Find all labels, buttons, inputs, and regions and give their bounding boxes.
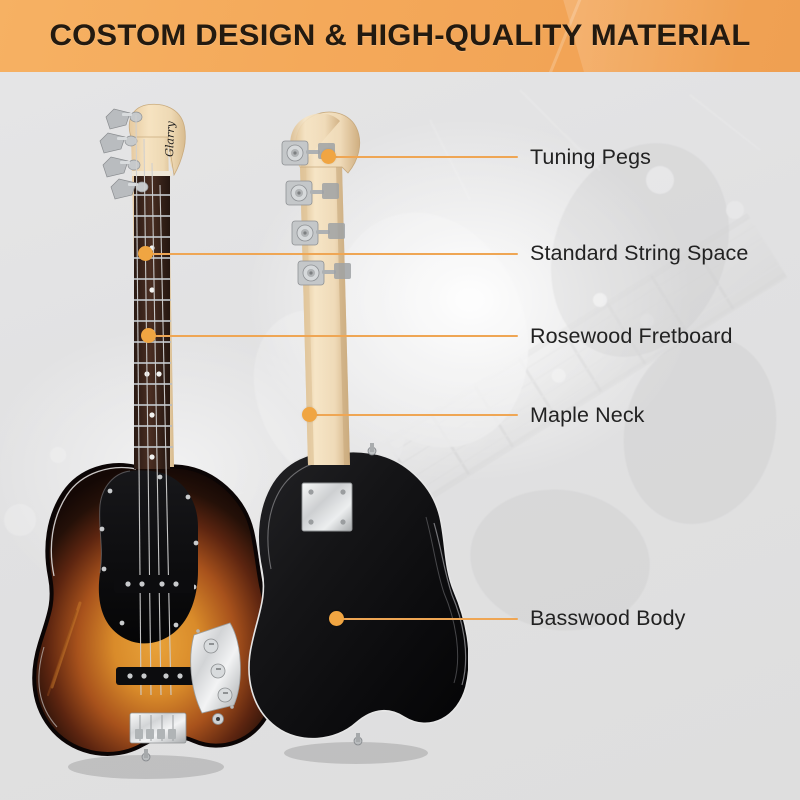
callout-label-standard-string-space: Standard String Space bbox=[530, 241, 748, 266]
callout-line bbox=[148, 335, 518, 337]
callout-line bbox=[336, 618, 518, 620]
product-bass-back bbox=[238, 105, 468, 770]
callout-label-tuning-pegs: Tuning Pegs bbox=[530, 145, 651, 170]
callout-dot bbox=[321, 149, 336, 164]
callout-label-basswood-body: Basswood Body bbox=[530, 606, 685, 631]
callout-dot bbox=[138, 246, 153, 261]
callout-line bbox=[145, 253, 518, 255]
page-title: COSTOM DESIGN & HIGH-QUALITY MATERIAL bbox=[0, 0, 800, 72]
callout-label-maple-neck: Maple Neck bbox=[530, 403, 645, 428]
header-banner: COSTOM DESIGN & HIGH-QUALITY MATERIAL bbox=[0, 0, 800, 72]
callout-dot bbox=[141, 328, 156, 343]
callout-dot bbox=[329, 611, 344, 626]
callout-label-rosewood-fretboard: Rosewood Fretboard bbox=[530, 324, 733, 349]
svg-text:Glarry: Glarry bbox=[163, 120, 177, 157]
callout-line bbox=[309, 414, 518, 416]
callout-dot bbox=[302, 407, 317, 422]
infographic-canvas: COSTOM DESIGN & HIGH-QUALITY MATERIAL bbox=[0, 0, 800, 800]
callout-line bbox=[328, 156, 518, 158]
